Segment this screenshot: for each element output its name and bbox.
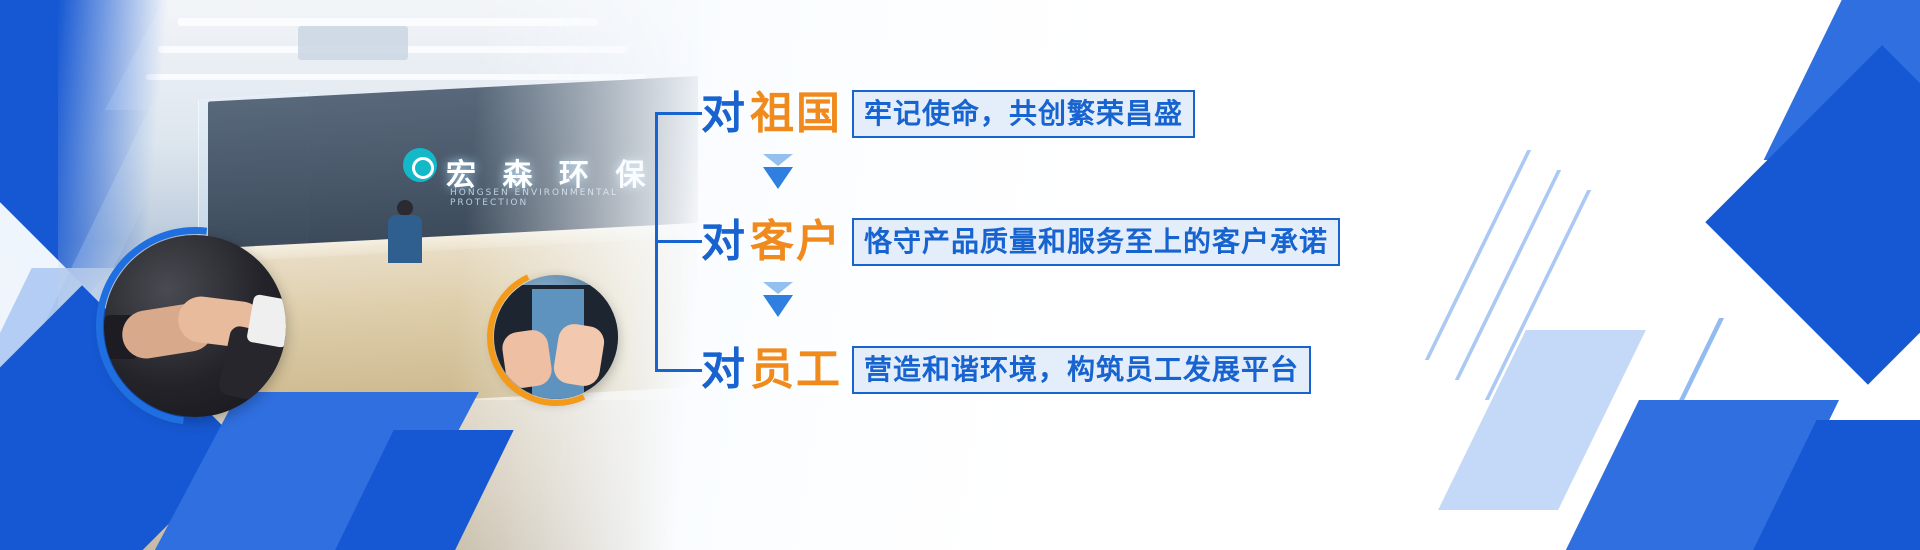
slogan-keyword: 祖国 <box>750 92 842 136</box>
bracket-arm-3 <box>658 369 702 372</box>
receptionist-head <box>397 200 413 216</box>
bracket-arm-2 <box>658 240 702 243</box>
ceiling-strip-1 <box>178 18 598 26</box>
chevron-dark-part <box>763 295 793 317</box>
receptionist-figure <box>388 200 422 262</box>
receptionist-body <box>388 215 422 263</box>
slogan-prefix: 对 <box>701 348 746 392</box>
slogan-description-box: 营造和谐环境，构筑员工发展平台 <box>852 346 1311 394</box>
slogan-row-customer: 对 客户 恪守产品质量和服务至上的客户承诺 <box>701 218 1340 266</box>
slogan-block: 对 祖国 牢记使命，共创繁荣昌盛 对 客户 恪守产品质量和服务至上的客户承诺 对… <box>655 72 1375 402</box>
chevron-light-part <box>763 282 793 294</box>
slogan-description: 恪守产品质量和服务至上的客户承诺 <box>864 225 1328 258</box>
slogan-description: 牢记使命，共创繁荣昌盛 <box>864 97 1183 130</box>
bracket-arm-1 <box>658 112 702 115</box>
ceiling-strip-3 <box>146 74 646 80</box>
slogan-row-employee: 对 员工 营造和谐环境，构筑员工发展平台 <box>701 346 1311 394</box>
slogan-keyword: 客户 <box>750 220 842 264</box>
slogan-description-box: 恪守产品质量和服务至上的客户承诺 <box>852 218 1340 266</box>
slogan-row-country: 对 祖国 牢记使命，共创繁荣昌盛 <box>701 90 1195 138</box>
slogan-prefix: 对 <box>701 220 746 264</box>
promo-banner: 宏 森 环 保 HONGSEN ENVIRONMENTAL PROTECTION <box>0 0 1920 550</box>
chevron-dark-part <box>763 167 793 189</box>
chevron-down-icon <box>763 154 793 189</box>
chevron-down-icon <box>763 282 793 317</box>
globe-leaf-icon <box>403 148 437 182</box>
slogan-description-box: 牢记使命，共创繁荣昌盛 <box>852 90 1195 138</box>
slogan-prefix: 对 <box>701 92 746 136</box>
bracket-connector <box>655 112 699 372</box>
ceiling-vent <box>298 26 408 60</box>
slogan-keyword: 员工 <box>750 348 842 392</box>
slogan-description: 营造和谐环境，构筑员工发展平台 <box>864 353 1299 386</box>
chevron-light-part <box>763 154 793 166</box>
